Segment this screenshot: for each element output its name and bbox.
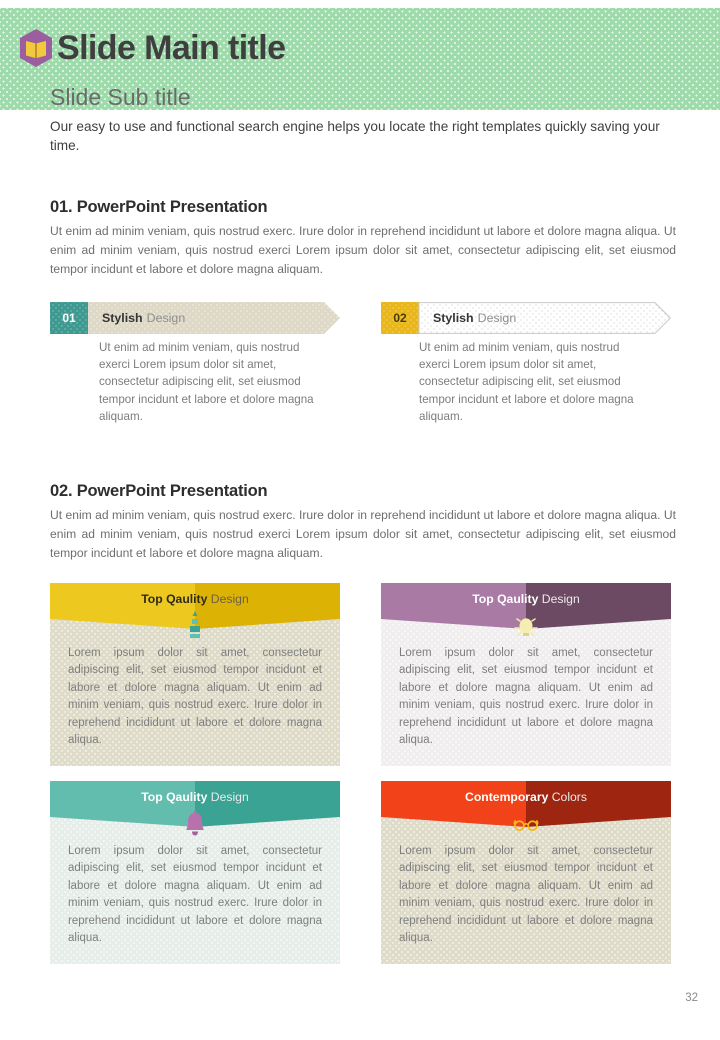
card-title-bold: Top Qaulity: [141, 592, 207, 606]
glasses-icon: [512, 809, 540, 839]
banner-label-bold: Stylish: [102, 311, 143, 325]
banner-01-paragraph: Ut enim ad minim veniam, quis nostrud ex…: [99, 339, 317, 425]
page-number: 32: [685, 992, 698, 1004]
banner-02-paragraph: Ut enim ad minim veniam, quis nostrud ex…: [419, 339, 637, 425]
page-title: Slide Main title: [57, 28, 285, 68]
section-2-body: Ut enim ad minim veniam, quis nostrud ex…: [50, 506, 676, 563]
card-body-text: Lorem ipsum dolor sit amet, consectetur …: [399, 843, 653, 947]
banner-number-badge: 02: [381, 302, 419, 334]
card-body-text: Lorem ipsum dolor sit amet, consectetur …: [68, 645, 322, 749]
card-title: Top Qaulity Design: [50, 592, 340, 606]
banner-label-bold: Stylish: [433, 311, 474, 325]
stylish-design-banner-02[interactable]: 02 Stylish Design: [381, 302, 671, 334]
banner-label: Stylish Design: [419, 302, 671, 334]
card-title-bold: Top Qaulity: [472, 592, 538, 606]
feature-card-top-quality-design-teal[interactable]: Top Qaulity Design Lorem ipsum dolor sit…: [50, 781, 340, 964]
page-subtitle: Slide Sub title: [50, 84, 191, 111]
stylish-design-banner-01[interactable]: 01 Stylish Design: [50, 302, 340, 334]
feature-card-top-quality-design-yellow[interactable]: Top Qaulity Design Lorem ipsum dolor sit…: [50, 583, 340, 766]
section-1-title: 01. PowerPoint Presentation: [50, 198, 267, 217]
lightbulb-icon: [512, 611, 540, 641]
bell-icon: [181, 809, 209, 839]
open-book-hexagon-icon: [18, 28, 54, 68]
card-title-light: Design: [211, 592, 249, 606]
card-title-light: Design: [211, 790, 249, 804]
card-title-light: Design: [542, 592, 580, 606]
banner-number-badge: 01: [50, 302, 88, 334]
card-body-text: Lorem ipsum dolor sit amet, consectetur …: [68, 843, 322, 947]
banner-label-light: Design: [147, 311, 186, 325]
rocket-icon: [181, 611, 209, 641]
section-1-body: Ut enim ad minim veniam, quis nostrud ex…: [50, 222, 676, 279]
card-title-light: Colors: [552, 790, 587, 804]
banner-label-light: Design: [478, 311, 517, 325]
card-title: Top Qaulity Design: [50, 790, 340, 804]
feature-card-contemporary-colors-red[interactable]: Contemporary Colors Lorem ipsum dolor si…: [381, 781, 671, 964]
card-title-bold: Contemporary: [465, 790, 548, 804]
banner-label: Stylish Design: [88, 302, 340, 334]
feature-card-top-quality-design-purple[interactable]: Top Qaulity Design Lorem ipsum dolor sit…: [381, 583, 671, 766]
slide-header-band: Slide Main title Slide Sub title: [0, 8, 720, 110]
card-title-bold: Top Qaulity: [141, 790, 207, 804]
card-title: Top Qaulity Design: [381, 592, 671, 606]
intro-paragraph: Our easy to use and functional search en…: [50, 117, 680, 155]
card-title: Contemporary Colors: [381, 790, 671, 804]
header-title-row: Slide Main title: [18, 28, 285, 68]
card-body-text: Lorem ipsum dolor sit amet, consectetur …: [399, 645, 653, 749]
section-2-title: 02. PowerPoint Presentation: [50, 482, 267, 501]
